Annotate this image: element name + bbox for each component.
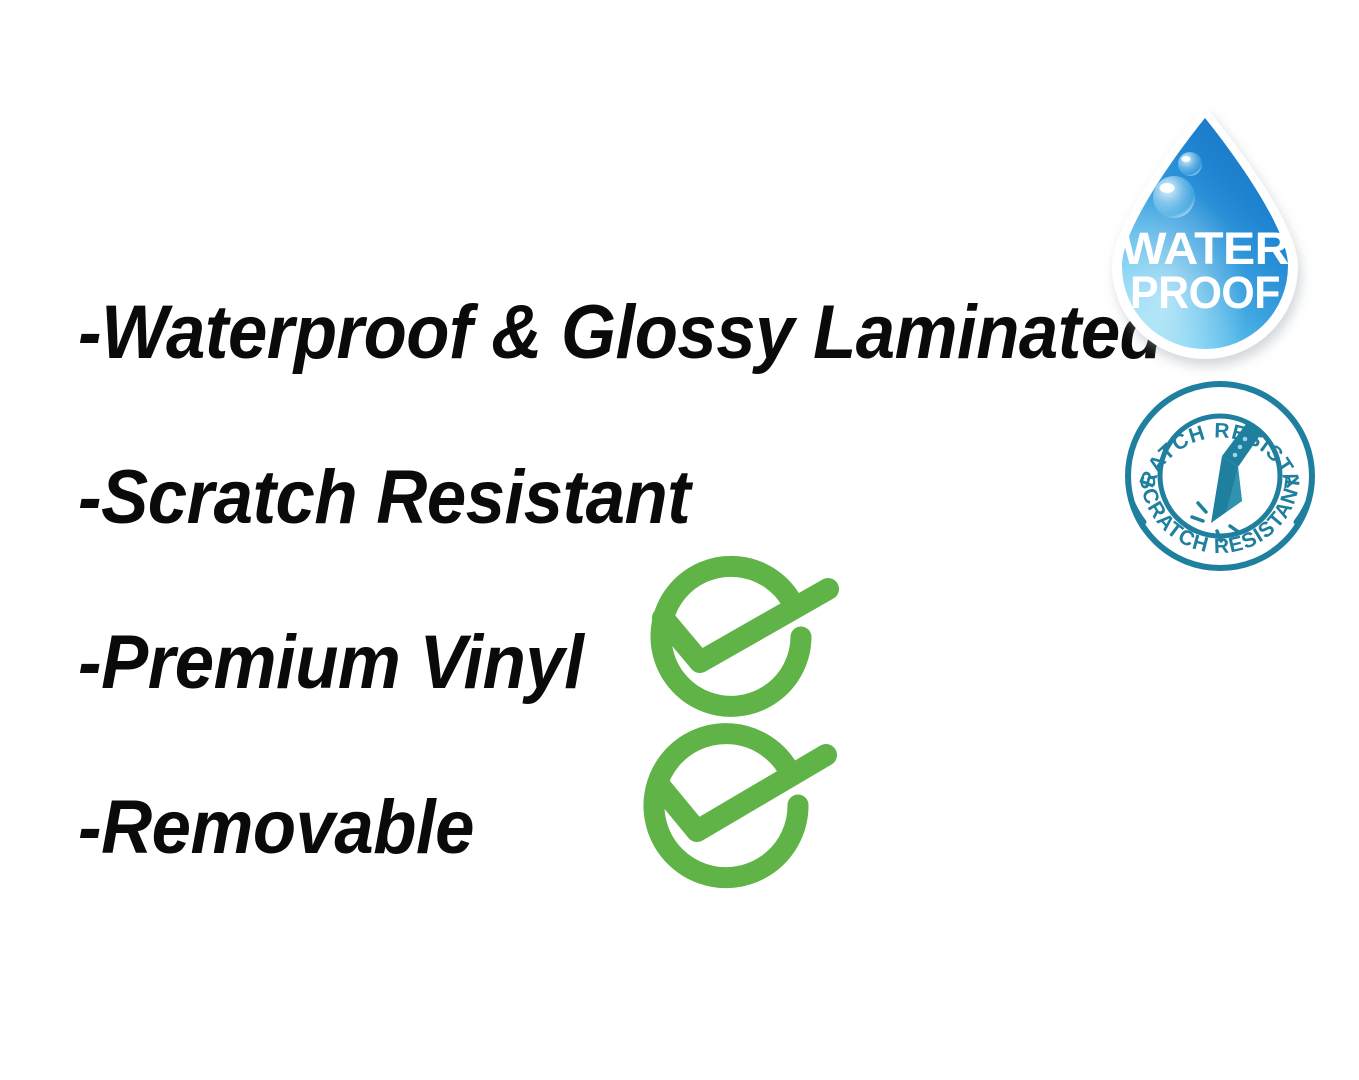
feature-label-scratch-resistant: -Scratch Resistant xyxy=(78,460,690,536)
bubble-large xyxy=(1153,176,1195,218)
spark-1 xyxy=(1198,503,1206,512)
check-circle-svg xyxy=(632,721,842,876)
feature-list: -Waterproof & Glossy Laminated -Scratch … xyxy=(78,250,1088,910)
knife-rivet-1 xyxy=(1243,437,1248,442)
feature-row-premium-vinyl: -Premium Vinyl xyxy=(78,580,1088,745)
water-drop-badge: WATER PROOF xyxy=(1098,104,1313,366)
scratch-stamp-svg: SCRATCH RESISTANT SCRATCH RESISTANT xyxy=(1118,381,1322,571)
knife-rivet-2 xyxy=(1238,445,1243,450)
knife-rivet-3 xyxy=(1233,453,1238,458)
check-circle-icon-removable xyxy=(632,721,842,876)
feature-row-waterproof-glossy: -Waterproof & Glossy Laminated xyxy=(78,250,1088,415)
feature-label-premium-vinyl: -Premium Vinyl xyxy=(78,625,583,701)
waterproof-line2: PROOF xyxy=(1130,267,1280,318)
water-drop-svg: WATER PROOF xyxy=(1098,104,1313,366)
feature-graphic-canvas: -Waterproof & Glossy Laminated -Scratch … xyxy=(0,0,1359,1080)
feature-label-waterproof-glossy: -Waterproof & Glossy Laminated xyxy=(78,295,1162,371)
bubble-small xyxy=(1178,152,1202,176)
feature-label-removable: -Removable xyxy=(78,790,474,866)
check-circle-svg xyxy=(636,556,846,706)
scratch-resistant-stamp: SCRATCH RESISTANT SCRATCH RESISTANT xyxy=(1118,381,1322,571)
feature-row-scratch-resistant: -Scratch Resistant xyxy=(78,415,1088,580)
feature-row-removable: -Removable xyxy=(78,745,1088,910)
check-circle-icon-premium-vinyl xyxy=(636,556,846,706)
bubble-small-highlight xyxy=(1182,156,1191,162)
spark-2 xyxy=(1192,517,1203,521)
bubble-large-highlight xyxy=(1160,183,1175,193)
